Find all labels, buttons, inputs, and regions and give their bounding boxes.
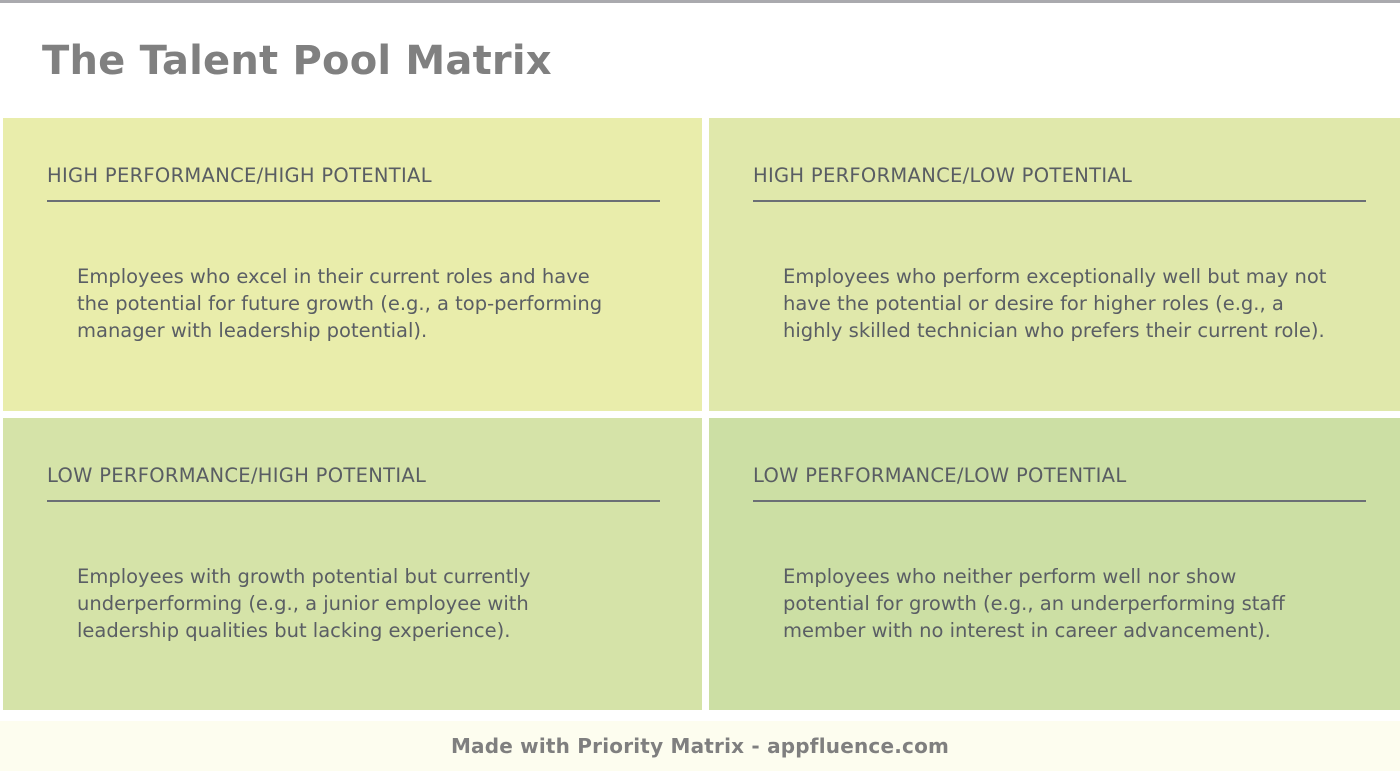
quadrant-description: Employees who perform exceptionally well… xyxy=(783,264,1328,345)
talent-pool-matrix-page: The Talent Pool Matrix HIGH PERFORMANCE/… xyxy=(0,0,1400,771)
quadrant-low-performance-low-potential[interactable]: LOW PERFORMANCE/LOW POTENTIAL Employees … xyxy=(709,418,1400,711)
matrix-grid: HIGH PERFORMANCE/HIGH POTENTIAL Employee… xyxy=(0,118,1400,710)
page-header: The Talent Pool Matrix xyxy=(0,3,1400,118)
footer-spacer xyxy=(0,710,1400,721)
quadrant-high-performance-low-potential[interactable]: HIGH PERFORMANCE/LOW POTENTIAL Employees… xyxy=(709,118,1400,411)
quadrant-high-performance-high-potential[interactable]: HIGH PERFORMANCE/HIGH POTENTIAL Employee… xyxy=(3,118,702,411)
quadrant-description: Employees who excel in their current rol… xyxy=(77,264,622,345)
quadrant-description: Employees with growth potential but curr… xyxy=(77,564,622,645)
page-title: The Talent Pool Matrix xyxy=(42,41,552,81)
quadrant-header: LOW PERFORMANCE/LOW POTENTIAL xyxy=(753,464,1366,502)
quadrant-header: HIGH PERFORMANCE/HIGH POTENTIAL xyxy=(47,164,660,202)
quadrant-header: LOW PERFORMANCE/HIGH POTENTIAL xyxy=(47,464,660,502)
quadrant-description: Employees who neither perform well nor s… xyxy=(783,564,1328,645)
footer-attribution[interactable]: Made with Priority Matrix - appfluence.c… xyxy=(451,734,949,758)
quadrant-low-performance-high-potential[interactable]: LOW PERFORMANCE/HIGH POTENTIAL Employees… xyxy=(3,418,702,711)
quadrant-header: HIGH PERFORMANCE/LOW POTENTIAL xyxy=(753,164,1366,202)
page-footer: Made with Priority Matrix - appfluence.c… xyxy=(0,721,1400,771)
